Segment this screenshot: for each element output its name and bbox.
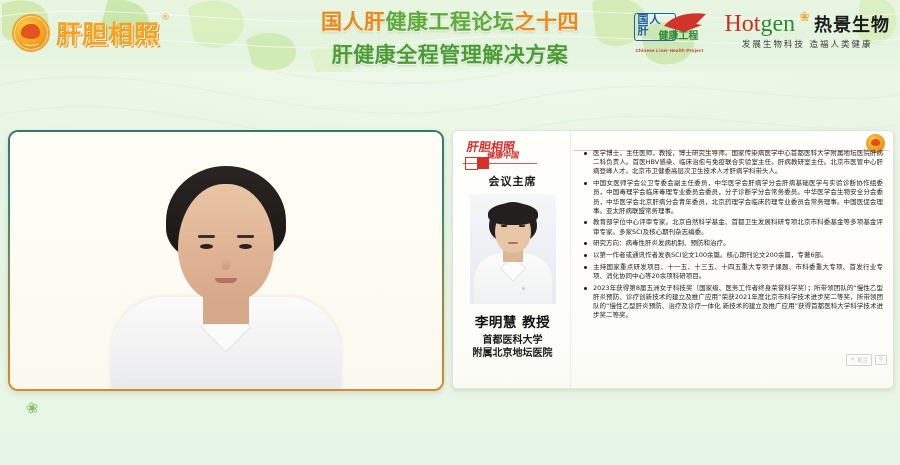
forum-title: 国人肝健康工程论坛之十四 肝健康全程管理解决方案 [280, 6, 620, 69]
speaker-portrait-photo [470, 194, 556, 304]
trademark-symbol: ® [161, 13, 171, 23]
title-part-b: 健康工程论坛 [386, 10, 515, 34]
hotgen-logo-row: Hotgen ❀ 热景生物 [724, 12, 890, 36]
hotgen-logo-cn: 热景生物 [814, 16, 890, 36]
pencil-icon: ✎ [850, 357, 855, 363]
stamp-line2: 健康中国 [486, 150, 520, 161]
clhp-logo-green-text: 健康工程 [658, 27, 698, 42]
speaker-name: 李明慧 教授 [475, 311, 550, 331]
brand-logo: 肝胆相照 ® [12, 14, 160, 52]
portrait-eye-left [501, 225, 507, 227]
speaker-brow-left [198, 235, 215, 238]
stamp-square-filled [477, 157, 489, 169]
speaker-profile-column: 肝胆相照 健康中国 会议主席 李明慧 教授 [453, 131, 571, 388]
speaker-nose [222, 258, 231, 270]
forum-title-line1: 国人肝健康工程论坛之十四 [280, 6, 620, 36]
zoom-button[interactable]: ⚲ [875, 355, 887, 365]
annotate-label: 批注 [857, 356, 868, 364]
annotate-button[interactable]: ✎ 批注 [846, 354, 872, 366]
speaker-role-label: 会议主席 [489, 173, 537, 189]
speaker-video-image [10, 132, 442, 389]
bio-bullet: 主持国家重点研发项目、十一五、十三五、十四五重大专项子课题、市科委重大专项、首发… [593, 263, 883, 281]
bio-bullet: 以第一作者或通讯作者发表SCI论文100余篇。核心期刊论文200余篇，专著6部。 [593, 251, 883, 260]
hotgen-logo-en: Hotgen [724, 12, 795, 36]
brand-logo-label: 肝胆相照 [56, 20, 160, 49]
speaker-organization: 首都医科大学 附属北京地坛医院 [473, 334, 553, 360]
stamp-logo: 肝胆相照 健康中国 [463, 139, 537, 169]
speaker-eye-right [239, 244, 252, 249]
speaker-video-inner [10, 132, 442, 389]
portrait-fringe [488, 203, 538, 225]
bio-bullet: 2023年获得第8届五洲女子科技奖（国家级、医务工作者终身荣誉科学奖）；所带领团… [593, 284, 883, 321]
liver-circle-icon [12, 14, 50, 52]
header-bar: 肝胆相照 ® 国人肝健康工程论坛之十四 肝健康全程管理解决方案 国人 肝 健康工… [0, 0, 900, 72]
bio-bullet: 中国女医师学会公卫专委会副主任委员，中华医学会肝病学分会肝病基础医学与实验诊断协… [593, 179, 883, 216]
annotation-watermark[interactable]: ✎ 批注 ⚲ [846, 354, 887, 366]
bio-bullet: 教育部学位中心评审专家。北京自然科学基金、首都卫生发展科研专项北京市科委基金等多… [593, 218, 883, 236]
magnifier-icon: ⚲ [879, 357, 883, 363]
forum-title-line2: 肝健康全程管理解决方案 [280, 39, 620, 69]
hotgen-en-part1: Hot [724, 11, 760, 37]
speaker-bio-column: 医学博士，主任医师，教授，博士研究生导师。国家传染病医学中心首都医科大学附属地坛… [571, 131, 893, 388]
butterfly-icon: ❀ [799, 9, 810, 25]
hotgen-logo: Hotgen ❀ 热景生物 发展生物科技 造福人类健康 [724, 12, 890, 50]
speaker-org-line1: 首都医科大学 [473, 334, 553, 347]
speaker-org-line2: 附属北京地坛医院 [473, 347, 553, 360]
speaker-bio-card: 肝胆相照 健康中国 会议主席 李明慧 教授 [452, 130, 894, 389]
presentation-stage: 肝胆相照 ® 国人肝健康工程论坛之十四 肝健康全程管理解决方案 国人 肝 健康工… [0, 0, 900, 465]
clhp-logo: 国人 肝 健康工程 Chinese Liver Health Project [632, 10, 710, 52]
title-part-c: 之十四 [515, 10, 580, 34]
brand-logo-text: 肝胆相照 ® [56, 15, 160, 51]
clhp-logo-en-text: Chinese Liver Health Project [635, 48, 703, 53]
speaker-mouth [215, 278, 237, 283]
portrait-eye-right [519, 225, 525, 227]
speaker-brow-right [237, 235, 254, 238]
hotgen-en-part2: gen [760, 11, 795, 37]
title-part-a: 国人肝 [321, 10, 386, 34]
speaker-eye-left [200, 244, 213, 249]
speaker-face [178, 184, 274, 302]
header-logos: 国人 肝 健康工程 Chinese Liver Health Project H… [632, 10, 890, 52]
hotgen-logo-tagline: 发展生物科技 造福人类健康 [742, 38, 873, 50]
bio-bullet: 研究方向：病毒性肝炎发病机制、预防和治疗。 [593, 239, 883, 248]
bio-bullet: 医学博士，主任医师，教授，博士研究生导师。国家传染病医学中心首都医科大学附属地坛… [593, 149, 883, 177]
portrait-button [522, 287, 525, 290]
bio-bullet-list: 医学博士，主任医师，教授，博士研究生导师。国家传染病医学中心首都医科大学附属地坛… [579, 149, 883, 320]
speaker-video-panel[interactable] [8, 130, 444, 391]
portrait-mouth [508, 242, 518, 244]
